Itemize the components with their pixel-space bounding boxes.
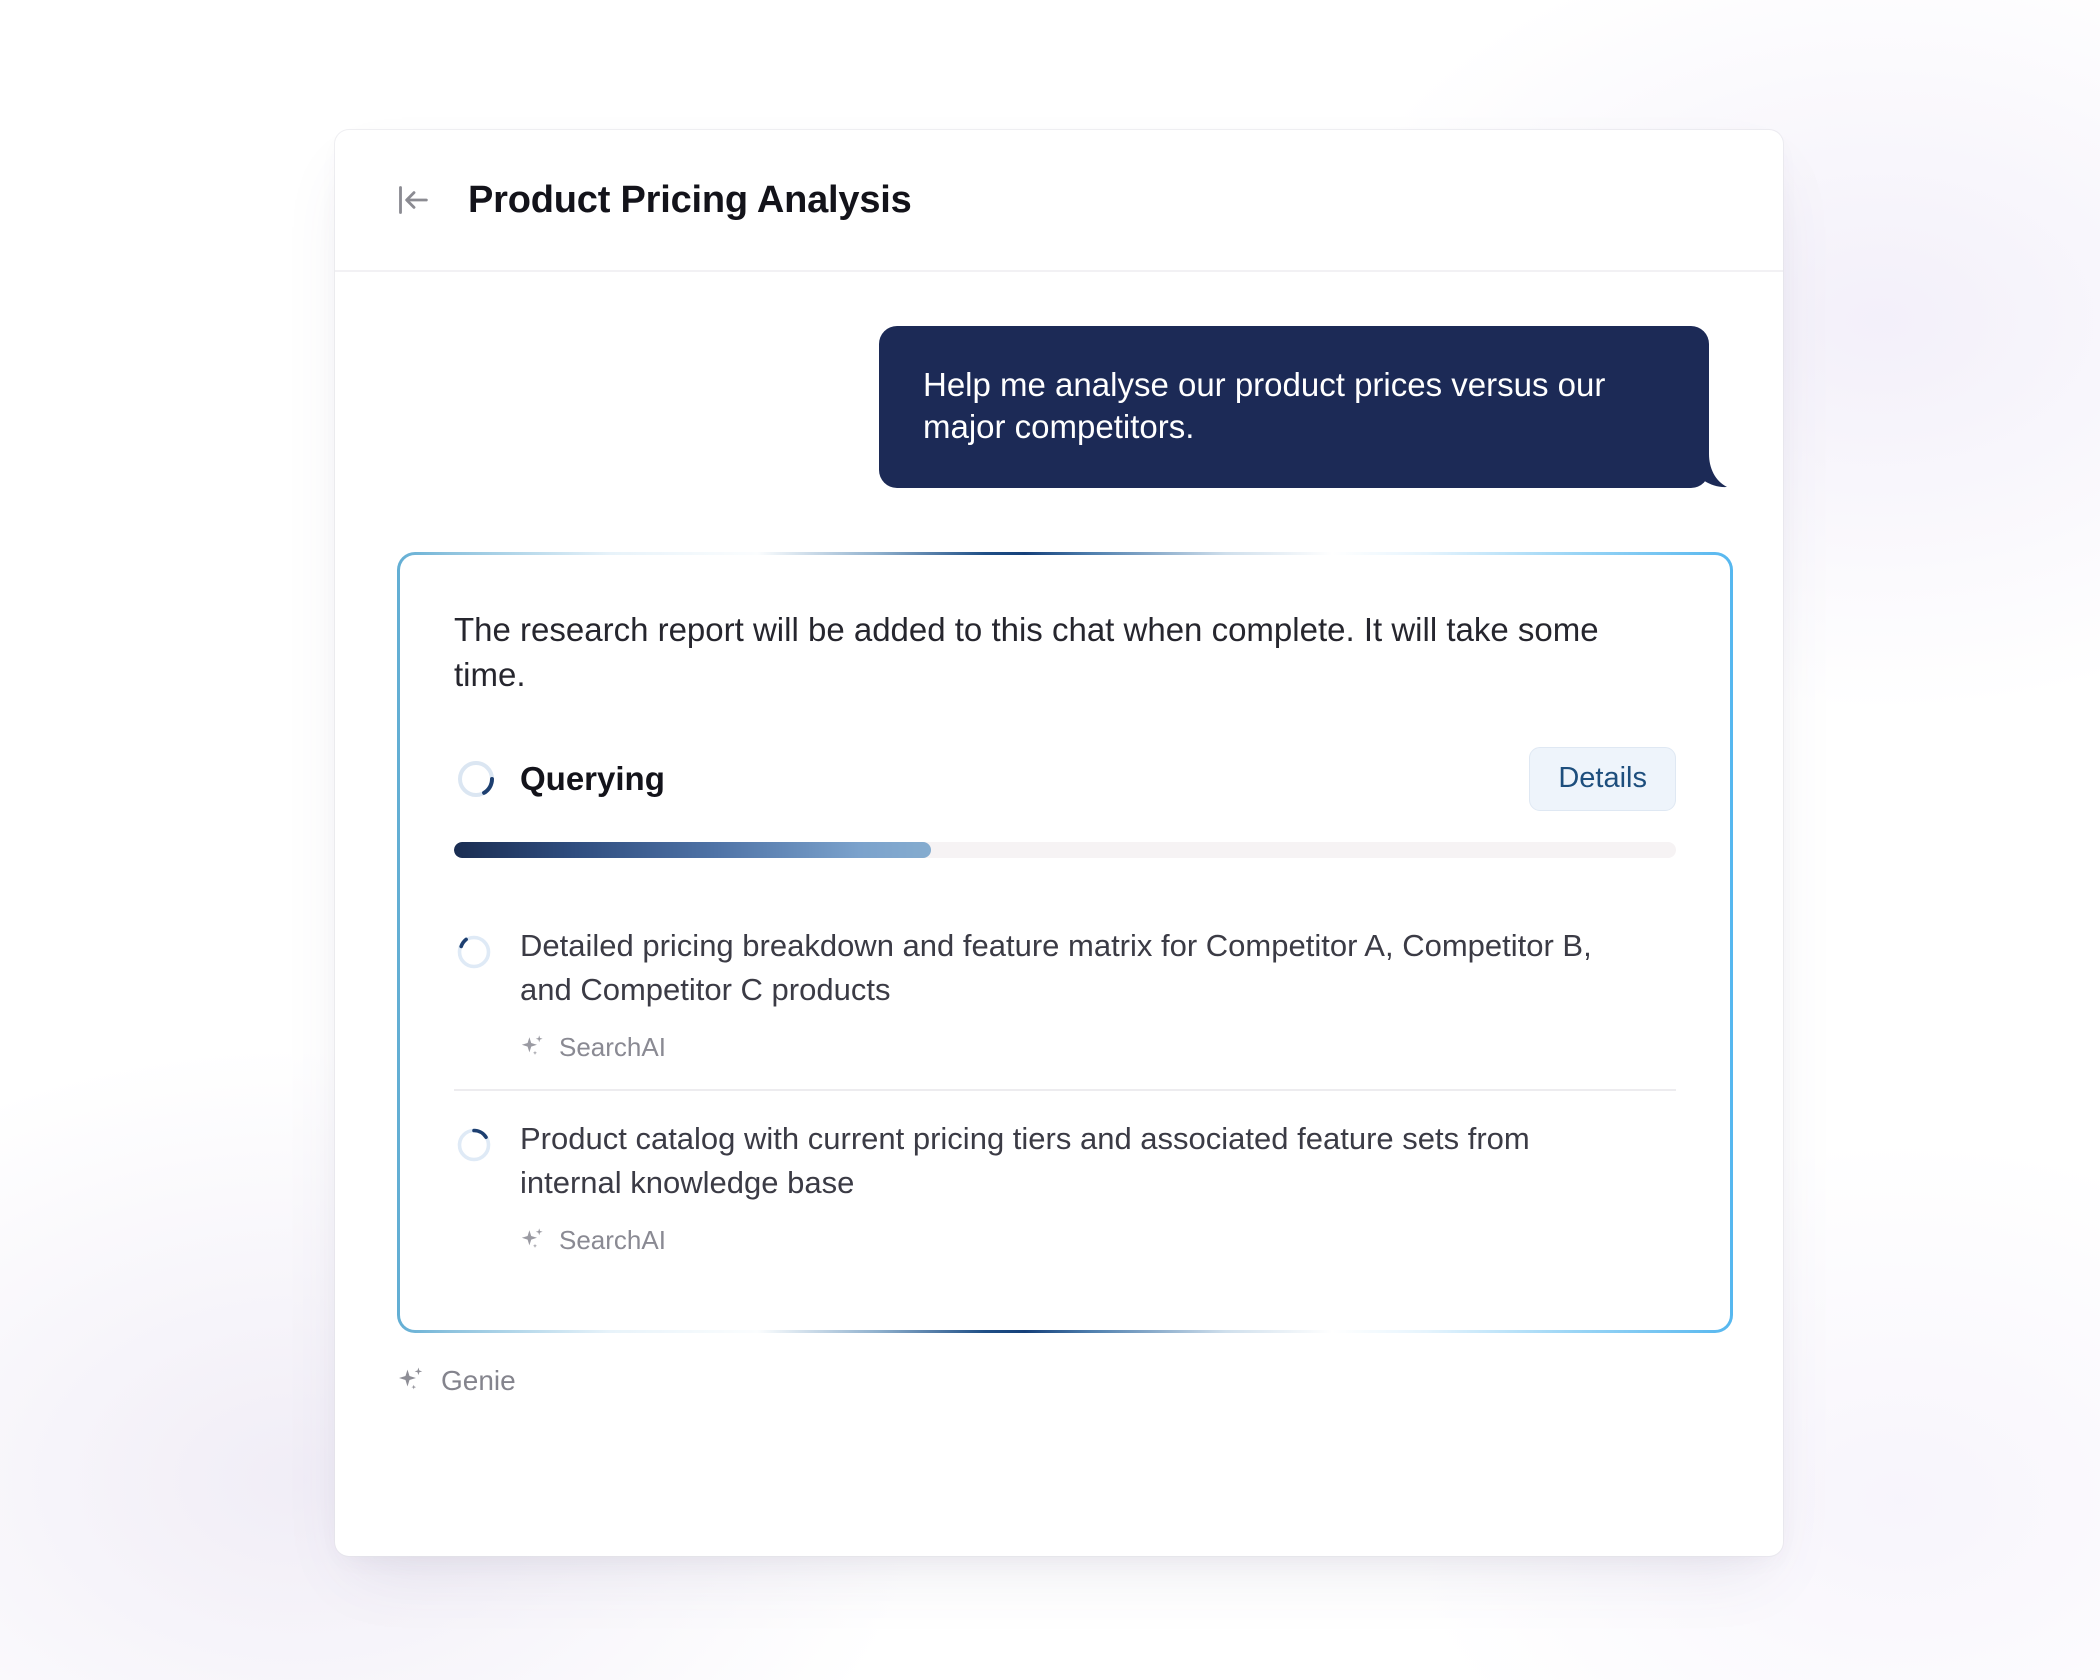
task-text: Detailed pricing breakdown and feature m… bbox=[520, 924, 1610, 1012]
list-item: Product catalog with current pricing tie… bbox=[454, 1089, 1676, 1282]
task-source-label: SearchAI bbox=[559, 1225, 666, 1256]
bubble-tail bbox=[1687, 454, 1727, 488]
user-message-text: Help me analyse our product prices versu… bbox=[923, 366, 1605, 445]
app-background: Product Pricing Analysis Help me analyse… bbox=[0, 0, 2100, 1680]
list-item: Detailed pricing breakdown and feature m… bbox=[454, 898, 1676, 1089]
research-task-list: Detailed pricing breakdown and feature m… bbox=[454, 898, 1676, 1282]
progress-bar-fill bbox=[454, 842, 931, 858]
sparkle-icon bbox=[520, 1034, 546, 1060]
task-source: SearchAI bbox=[520, 1225, 1676, 1256]
panel-header: Product Pricing Analysis bbox=[335, 130, 1783, 272]
task-body: Detailed pricing breakdown and feature m… bbox=[520, 924, 1676, 1063]
collapse-panel-left-arrow-icon[interactable] bbox=[392, 179, 434, 221]
assistant-attribution: Genie bbox=[397, 1365, 1721, 1397]
task-source: SearchAI bbox=[520, 1032, 1676, 1063]
sparkle-icon bbox=[520, 1227, 546, 1253]
loading-spinner-icon bbox=[454, 757, 498, 801]
conversation-area: Help me analyse our product prices versu… bbox=[335, 272, 1783, 1556]
progress-bar-track bbox=[454, 842, 1676, 858]
research-status-row: Querying Details bbox=[454, 746, 1676, 812]
research-progress-card: The research report will be added to thi… bbox=[397, 552, 1733, 1333]
user-message-bubble: Help me analyse our product prices versu… bbox=[879, 326, 1709, 488]
task-source-label: SearchAI bbox=[559, 1032, 666, 1063]
loading-spinner-icon bbox=[454, 932, 494, 972]
attribution-label: Genie bbox=[441, 1365, 516, 1397]
loading-spinner-icon bbox=[454, 1125, 494, 1165]
task-body: Product catalog with current pricing tie… bbox=[520, 1117, 1676, 1256]
user-message-row: Help me analyse our product prices versu… bbox=[397, 326, 1721, 488]
task-text: Product catalog with current pricing tie… bbox=[520, 1117, 1610, 1205]
sparkle-icon bbox=[397, 1366, 426, 1395]
research-card-intro-text: The research report will be added to thi… bbox=[454, 607, 1674, 698]
chat-panel: Product Pricing Analysis Help me analyse… bbox=[335, 130, 1783, 1556]
details-button[interactable]: Details bbox=[1529, 747, 1676, 811]
page-title: Product Pricing Analysis bbox=[468, 179, 912, 222]
status-label: Querying bbox=[520, 760, 665, 798]
